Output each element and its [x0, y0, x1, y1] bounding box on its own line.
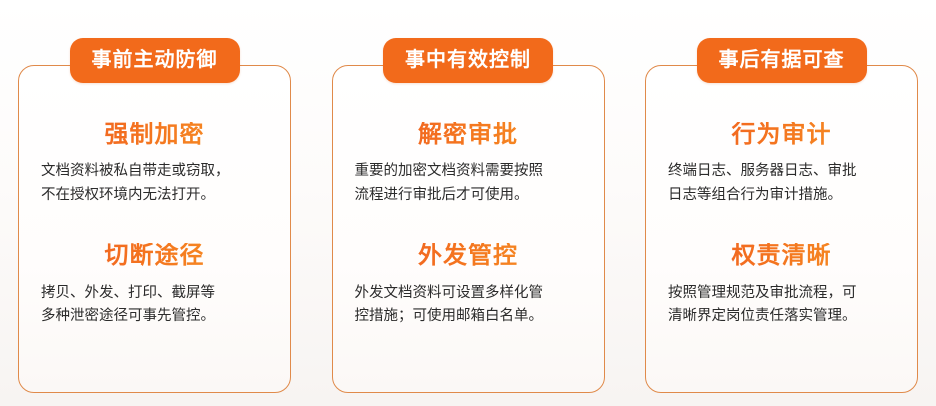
desc-line: 文档资料被私自带走或窃取， — [41, 160, 268, 183]
card-block: 切断途径 拷贝、外发、打印、截屏等 多种泄密途径可事先管控。 — [19, 243, 290, 328]
block-description: 外发文档资料可设置多样化管 控措施；可使用邮箱白名单。 — [349, 282, 588, 329]
card-audit: 事后有据可查 行为审计 终端日志、服务器日志、审批 日志等组合行为审计措施。 权… — [645, 65, 918, 393]
card-block: 外发管控 外发文档资料可设置多样化管 控措施；可使用邮箱白名单。 — [333, 243, 604, 328]
block-title: 解密审批 — [349, 122, 588, 148]
block-title: 外发管控 — [349, 243, 588, 269]
block-title: 行为审计 — [662, 122, 901, 148]
block-description: 终端日志、服务器日志、审批 日志等组合行为审计措施。 — [662, 160, 901, 207]
card-block: 强制加密 文档资料被私自带走或窃取， 不在授权环境内无法打开。 — [19, 122, 290, 207]
desc-line: 重要的加密文档资料需要按照 — [355, 160, 582, 183]
card-badge: 事后有据可查 — [697, 38, 867, 83]
card-badge: 事前主动防御 — [70, 38, 240, 83]
block-description: 拷贝、外发、打印、截屏等 多种泄密途径可事先管控。 — [35, 282, 274, 329]
card-badge: 事中有效控制 — [383, 38, 553, 83]
cards-row: 事前主动防御 强制加密 文档资料被私自带走或窃取， 不在授权环境内无法打开。 切… — [18, 65, 918, 393]
desc-line: 流程进行审批后才可使用。 — [355, 184, 582, 207]
desc-line: 拷贝、外发、打印、截屏等 — [41, 282, 268, 305]
desc-line: 外发文档资料可设置多样化管 — [355, 282, 582, 305]
card-block: 解密审批 重要的加密文档资料需要按照 流程进行审批后才可使用。 — [333, 122, 604, 207]
infographic-stage: 事前主动防御 强制加密 文档资料被私自带走或窃取， 不在授权环境内无法打开。 切… — [0, 0, 936, 406]
card-prevention: 事前主动防御 强制加密 文档资料被私自带走或窃取， 不在授权环境内无法打开。 切… — [18, 65, 291, 393]
block-description: 文档资料被私自带走或窃取， 不在授权环境内无法打开。 — [35, 160, 274, 207]
desc-line: 按照管理规范及审批流程，可 — [668, 282, 895, 305]
card-block: 权责清晰 按照管理规范及审批流程，可 清晰界定岗位责任落实管理。 — [646, 243, 917, 328]
desc-line: 不在授权环境内无法打开。 — [41, 184, 268, 207]
desc-line: 清晰界定岗位责任落实管理。 — [668, 305, 895, 328]
block-description: 按照管理规范及审批流程，可 清晰界定岗位责任落实管理。 — [662, 282, 901, 329]
block-title: 强制加密 — [35, 122, 274, 148]
block-title: 权责清晰 — [662, 243, 901, 269]
block-description: 重要的加密文档资料需要按照 流程进行审批后才可使用。 — [349, 160, 588, 207]
desc-line: 多种泄密途径可事先管控。 — [41, 305, 268, 328]
desc-line: 日志等组合行为审计措施。 — [668, 184, 895, 207]
card-block: 行为审计 终端日志、服务器日志、审批 日志等组合行为审计措施。 — [646, 122, 917, 207]
desc-line: 控措施；可使用邮箱白名单。 — [355, 305, 582, 328]
desc-line: 终端日志、服务器日志、审批 — [668, 160, 895, 183]
card-control: 事中有效控制 解密审批 重要的加密文档资料需要按照 流程进行审批后才可使用。 外… — [332, 65, 605, 393]
block-title: 切断途径 — [35, 243, 274, 269]
